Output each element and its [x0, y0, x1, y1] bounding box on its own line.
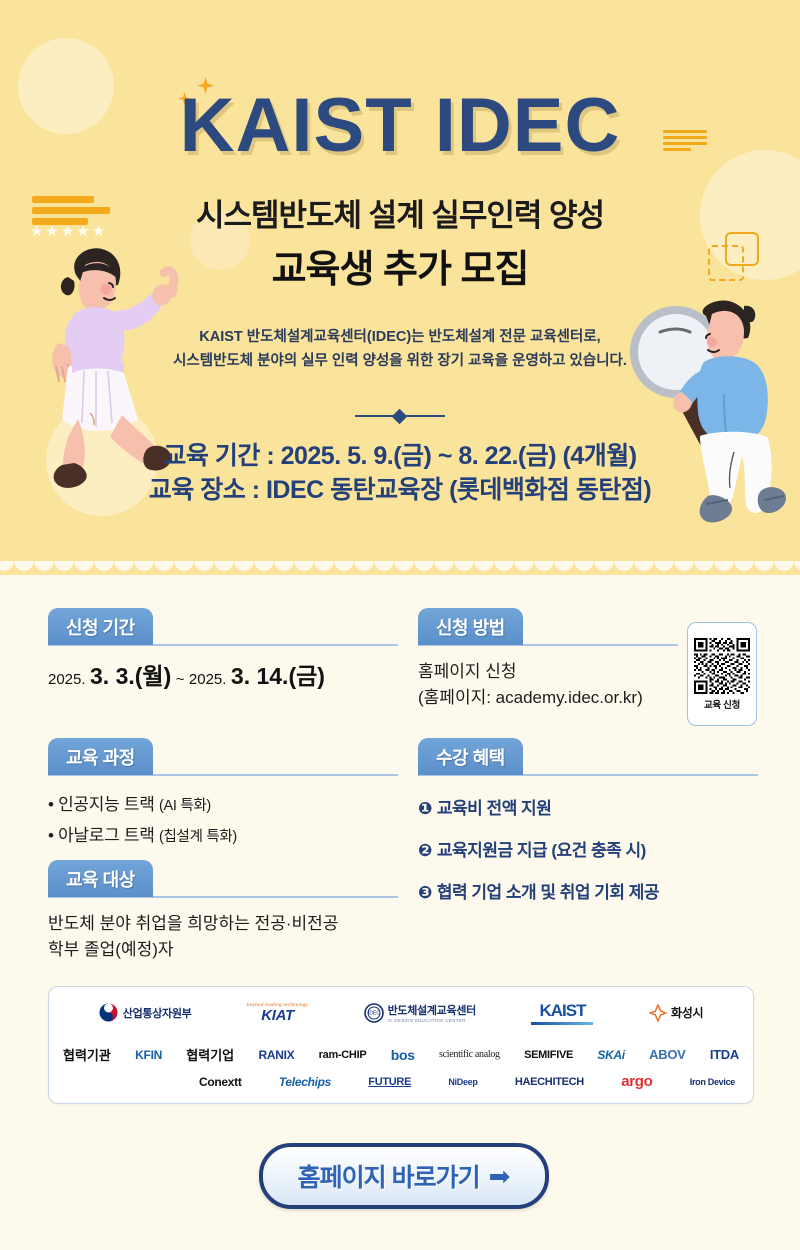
- hero-place-line: 교육 장소 : IDEC 동탄교육장 (롯데백화점 동탄점): [0, 470, 800, 506]
- idec-seal-icon: IDEC: [364, 1003, 384, 1023]
- logo-tagline: IC DESIGN EDUCATION CENTER: [388, 1018, 476, 1023]
- list-item: • 인공지능 트랙 (AI 특화): [48, 790, 398, 815]
- logo-hwaseong: 화성시: [649, 1004, 703, 1022]
- section-curriculum: 교육 과정 • 인공지능 트랙 (AI 특화) • 아날로그 트랙 (칩설계 특…: [48, 738, 398, 852]
- apply-method-line-1: 홈페이지 신청: [418, 659, 678, 685]
- apply-period-tilde: ~: [176, 671, 185, 688]
- benefit-number-icon: ❶: [418, 799, 432, 818]
- homepage-link-button[interactable]: 홈페이지 바로가기 ➡: [259, 1143, 549, 1209]
- logo-row-partners-2: Conextt Telechips FUTURE NiDeep HAECHITE…: [199, 1073, 753, 1090]
- svg-text:IDEC: IDEC: [368, 1010, 380, 1016]
- logo-scientific-analog: scientific analog: [439, 1049, 500, 1060]
- logo-bos: bos: [391, 1047, 415, 1063]
- curriculum-item-main: • 인공지능 트랙: [48, 795, 159, 814]
- curriculum-item-note: (AI 특화): [159, 798, 211, 814]
- benefits-list: ❶교육비 전액 지원 ❷교육지원금 지급 (요건 충족 시) ❸협력 기업 소개…: [418, 776, 758, 903]
- curriculum-item-main: • 아날로그 트랙: [48, 826, 159, 845]
- logo-label: 산업통상자원부: [123, 1005, 192, 1021]
- apply-method-body: 홈페이지 신청 (홈페이지: academy.idec.or.kr): [418, 646, 678, 712]
- logo-abov: ABOV: [649, 1047, 685, 1062]
- logo-motie: 산업통상자원부: [99, 1003, 192, 1022]
- apply-method-line-2: (홈페이지: academy.idec.or.kr): [418, 685, 678, 711]
- section-target: 교육 대상 반도체 분야 취업을 희망하는 전공·비전공 학부 졸업(예정)자: [48, 860, 398, 964]
- logo-haechitech: HAECHITECH: [515, 1076, 584, 1088]
- poster-root: ★★★★★: [0, 0, 800, 1250]
- logo-conextt: Conextt: [199, 1075, 242, 1089]
- logo-nideep: NiDeep: [448, 1077, 477, 1087]
- qr-code-icon[interactable]: [694, 638, 750, 694]
- hero-description-line-1: KAIST 반도체설계교육센터(IDEC)는 반도체설계 전문 교육센터로,: [0, 326, 800, 350]
- list-item: • 아날로그 트랙 (칩설계 특화): [48, 821, 398, 846]
- section-heading-curriculum: 교육 과정: [48, 738, 153, 775]
- hero-subtitle: 시스템반도체 설계 실무인력 양성: [0, 190, 800, 235]
- hero-description-line-2: 시스템반도체 분야의 실무 인력 양성을 위한 장기 교육을 운영하고 있습니다…: [0, 350, 800, 374]
- apply-period-year-from: 2025.: [48, 671, 86, 688]
- list-item: ❷교육지원금 지급 (요건 충족 시): [418, 836, 758, 861]
- target-line-2: 학부 졸업(예정)자: [48, 937, 398, 963]
- arrow-right-icon: ➡: [489, 1163, 511, 1189]
- page-title: KAIST IDEC: [0, 82, 800, 169]
- logo-label: 화성시: [671, 1004, 703, 1021]
- section-heading-apply-method: 신청 방법: [418, 608, 523, 645]
- list-item: ❶교육비 전액 지원: [418, 794, 758, 819]
- apply-period-year-to: 2025.: [189, 671, 227, 688]
- target-body: 반도체 분야 취업을 희망하는 전공·비전공 학부 졸업(예정)자: [48, 898, 398, 964]
- apply-period-value: 2025. 3. 3.(월) ~ 2025. 3. 14.(금): [48, 646, 398, 695]
- target-line-1: 반도체 분야 취업을 희망하는 전공·비전공: [48, 911, 398, 937]
- section-heading-target: 교육 대상: [48, 860, 153, 897]
- logo-ranix: RANIX: [258, 1048, 294, 1062]
- label-partner-companies: 협력기업: [186, 1045, 234, 1064]
- curriculum-item-note: (칩설계 특화): [159, 829, 237, 845]
- logo-kfin: KFIN: [135, 1048, 162, 1062]
- logo-kiat: beyond leading technology KIAT: [247, 1002, 308, 1024]
- partner-logos-panel: 산업통상자원부 beyond leading technology KIAT I…: [48, 986, 754, 1104]
- curriculum-list: • 인공지능 트랙 (AI 특화) • 아날로그 트랙 (칩설계 특화): [48, 776, 398, 846]
- hwaseong-mark-icon: [649, 1004, 667, 1022]
- logo-semifive: SEMIFIVE: [524, 1049, 573, 1061]
- hero-period-line: 교육 기간 : 2025. 5. 9.(금) ~ 8. 22.(금) (4개월): [0, 436, 800, 472]
- logo-iron-device: Iron Device: [690, 1077, 735, 1087]
- taegeuk-icon: [99, 1003, 118, 1022]
- section-heading-apply-period: 신청 기간: [48, 608, 153, 645]
- logo-row-organizers: 산업통상자원부 beyond leading technology KIAT I…: [49, 1001, 753, 1025]
- diamond-divider-icon: [355, 410, 445, 422]
- qr-code-block[interactable]: 교육 신청: [687, 622, 757, 726]
- apply-period-date-from: 3. 3.(월): [90, 663, 171, 689]
- apply-period-date-to: 3. 14.(금): [231, 663, 325, 689]
- scallop-divider: [0, 561, 800, 575]
- label-partner-orgs: 협력기관: [63, 1045, 111, 1064]
- section-benefits: 수강 혜택 ❶교육비 전액 지원 ❷교육지원금 지급 (요건 충족 시) ❸협력…: [418, 738, 758, 920]
- section-apply-period: 신청 기간 2025. 3. 3.(월) ~ 2025. 3. 14.(금): [48, 608, 398, 695]
- hero-section: ★★★★★: [0, 0, 800, 575]
- benefit-number-icon: ❸: [418, 883, 432, 902]
- logo-row-partners: 협력기관 KFIN 협력기업 RANIX ram-CHIP bos scient…: [49, 1045, 753, 1064]
- logo-telechips: Telechips: [279, 1075, 331, 1089]
- logo-future-design-systems: FUTURE: [368, 1076, 411, 1088]
- logo-ramxchip: ram-CHIP: [319, 1049, 367, 1061]
- benefit-text: 교육비 전액 지원: [437, 799, 551, 818]
- logo-kaist: KAIST: [531, 1001, 593, 1025]
- benefit-text: 교육지원금 지급 (요건 충족 시): [437, 841, 646, 860]
- logo-itda: ITDA: [710, 1047, 739, 1062]
- logo-label: 반도체설계교육센터: [388, 1002, 476, 1018]
- logo-skai: SKAi: [597, 1048, 624, 1062]
- hero-description: KAIST 반도체설계교육센터(IDEC)는 반도체설계 전문 교육센터로, 시…: [0, 326, 800, 374]
- section-heading-benefits: 수강 혜택: [418, 738, 523, 775]
- logo-label: KAIST: [539, 1001, 585, 1021]
- list-item: ❸협력 기업 소개 및 취업 기회 제공: [418, 878, 758, 903]
- benefit-number-icon: ❷: [418, 841, 432, 860]
- logo-label: KIAT: [261, 1007, 294, 1024]
- cta-label: 홈페이지 바로가기: [298, 1158, 480, 1194]
- logo-idec: IDEC 반도체설계교육센터 IC DESIGN EDUCATION CENTE…: [364, 1002, 476, 1023]
- qr-caption: 교육 신청: [704, 697, 740, 711]
- hero-subtitle-secondary: 교육생 추가 모집: [0, 238, 800, 293]
- logo-argo: argo: [621, 1073, 652, 1090]
- benefit-text: 협력 기업 소개 및 취업 기회 제공: [437, 883, 659, 902]
- section-apply-method: 신청 방법 홈페이지 신청 (홈페이지: academy.idec.or.kr): [418, 608, 678, 712]
